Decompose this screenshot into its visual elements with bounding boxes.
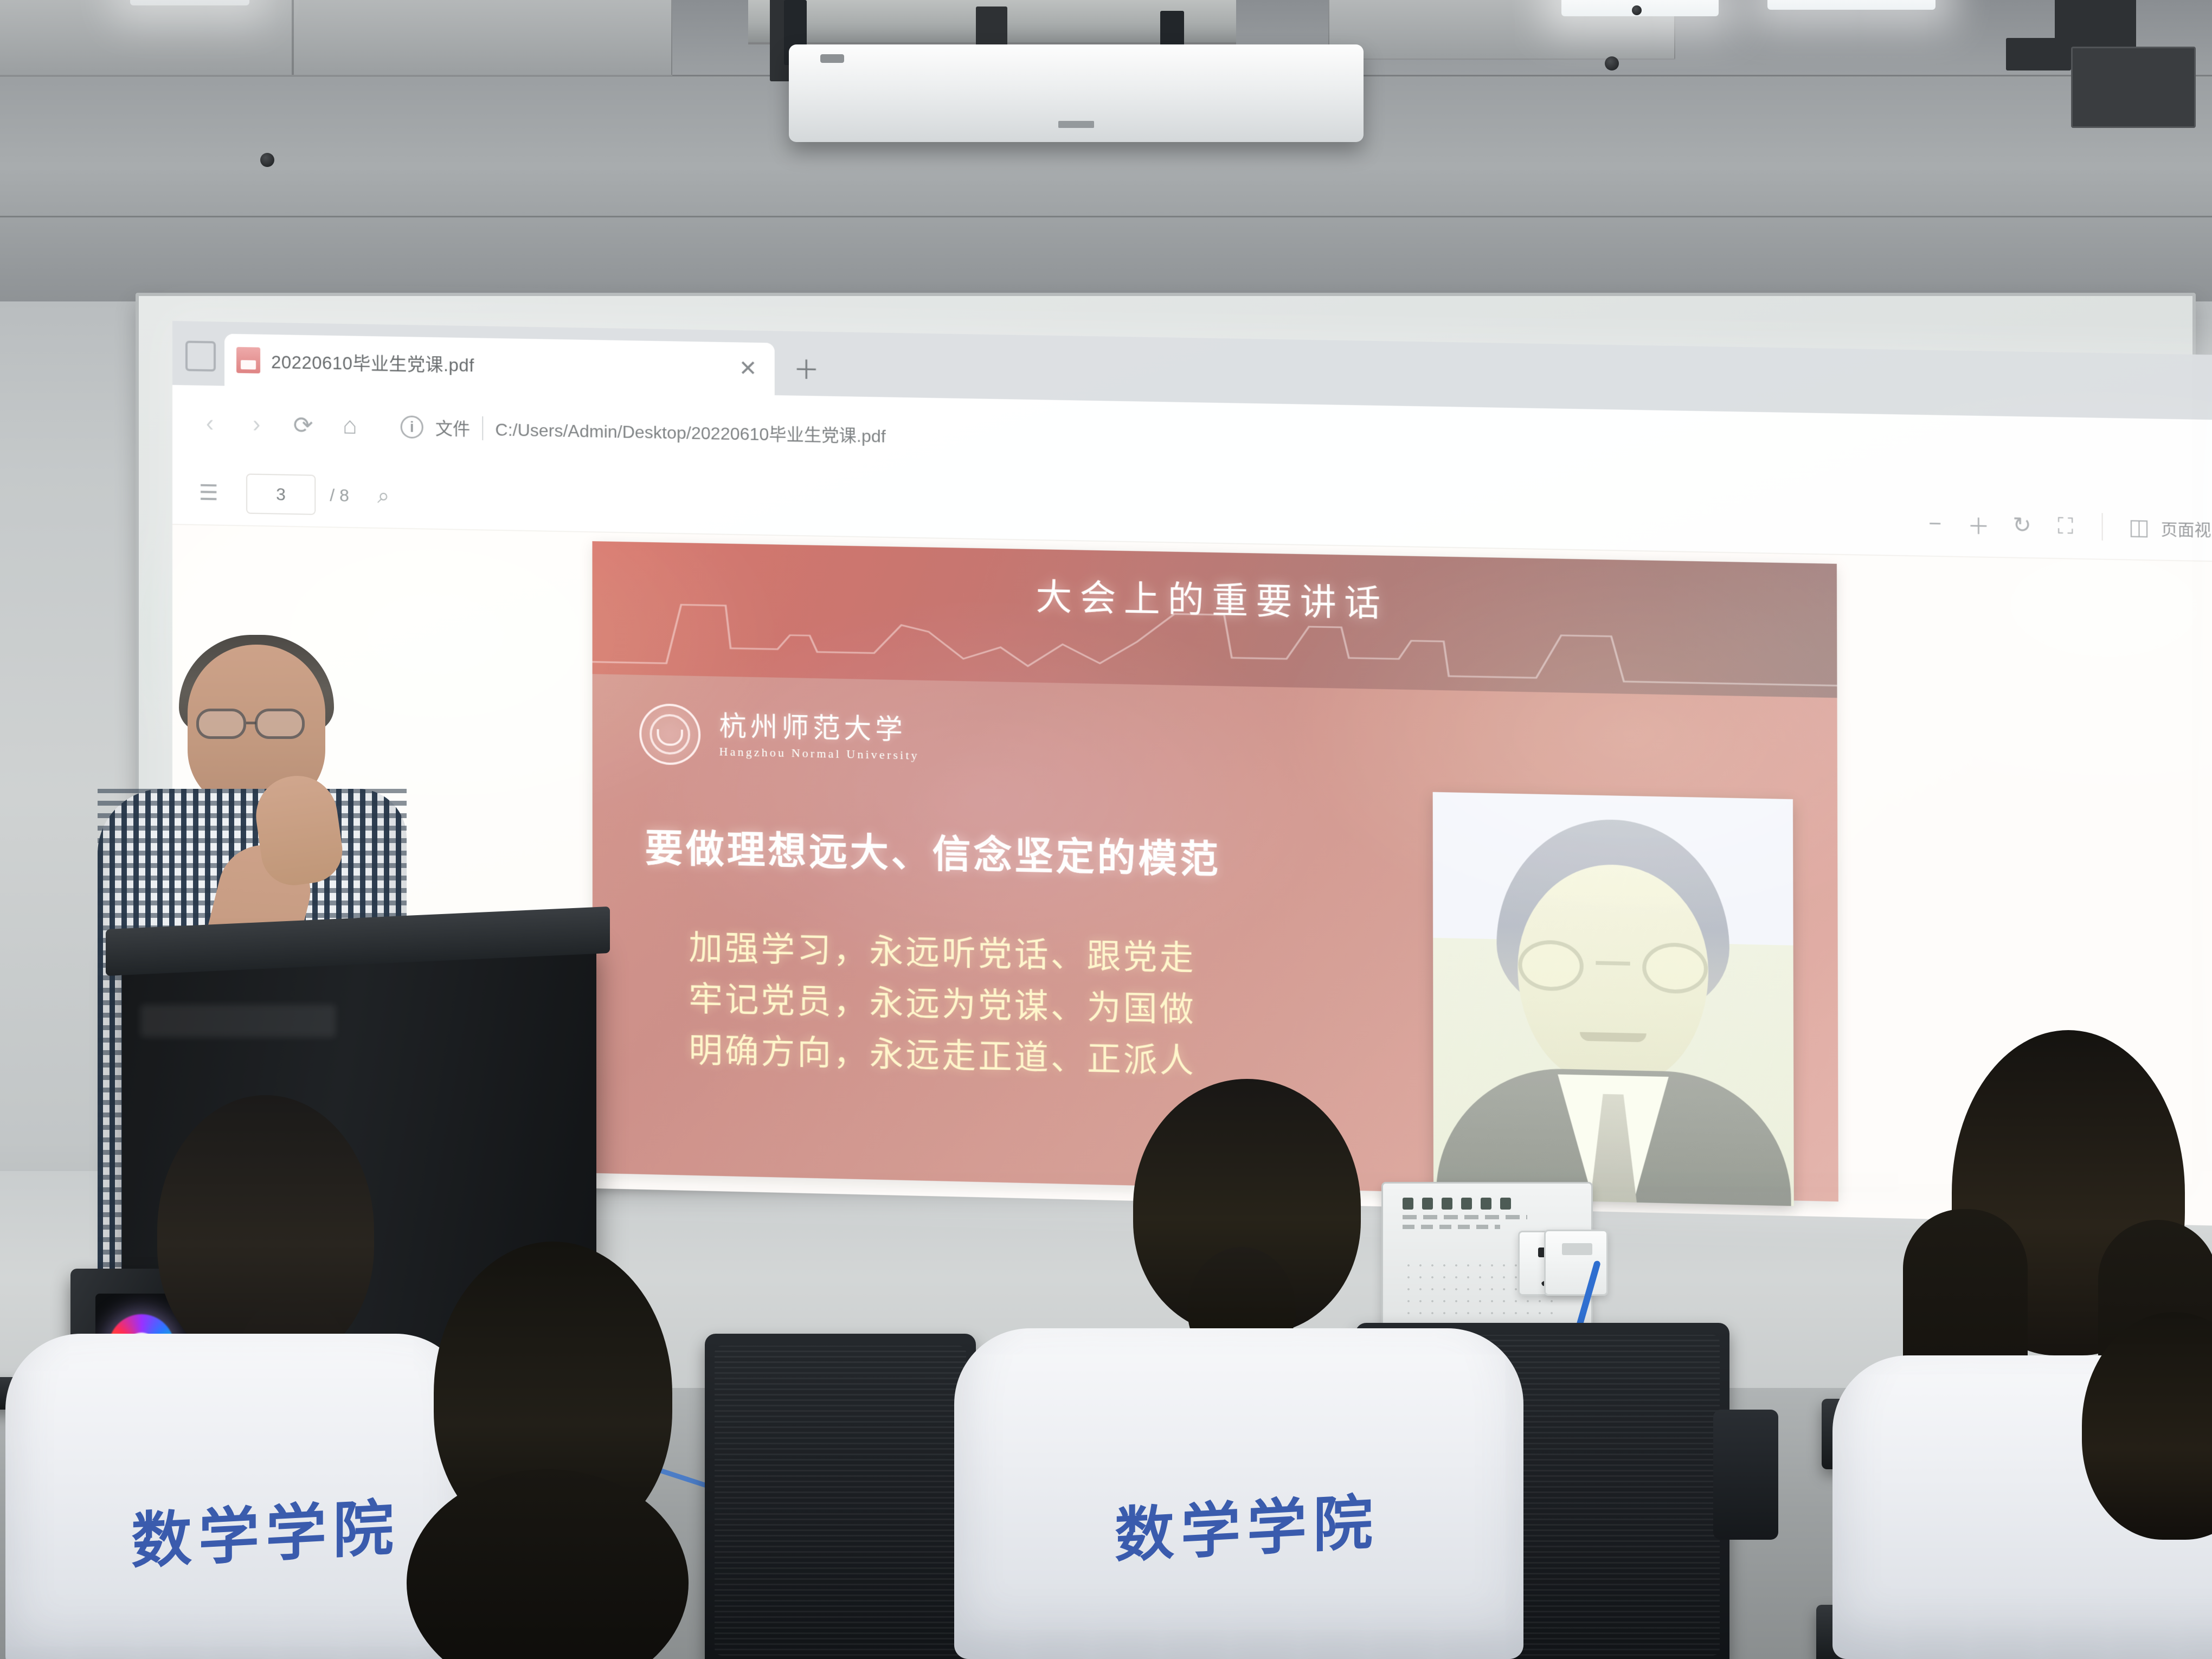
portrait-mouth <box>1580 1032 1647 1043</box>
sprinkler-head <box>260 153 274 167</box>
lectern-highlight <box>140 1005 336 1037</box>
reload-icon[interactable]: ⟳ <box>280 401 326 449</box>
close-icon[interactable]: ✕ <box>734 357 763 380</box>
ceiling-projector <box>789 44 1364 142</box>
portrait-photo <box>1433 792 1794 1206</box>
page-view-icon[interactable]: ◫ <box>2117 506 2161 550</box>
slide-body-lines: 加强学习，永远听党话、跟党走 牢记党员，永远为党谋、为国做 明确方向，永远走正道… <box>689 922 1196 1088</box>
scheme-label: 文件 <box>435 415 470 440</box>
forward-icon[interactable]: › <box>233 401 280 448</box>
site-info-icon[interactable]: i <box>401 415 423 439</box>
chair-armrest <box>1713 1410 1778 1540</box>
search-icon[interactable]: ⌕ <box>362 474 404 518</box>
url-text: C:/Users/Admin/Desktop/20220610毕业生党课.pdf <box>495 416 886 448</box>
network-port <box>1562 1243 1592 1255</box>
page-number-input[interactable]: 3 <box>246 473 316 515</box>
presenter-glasses-left <box>196 709 246 739</box>
rotate-icon[interactable]: ↻ <box>2000 504 2043 548</box>
back-icon[interactable]: ‹ <box>187 400 233 447</box>
chair[interactable] <box>705 1334 976 1659</box>
tab-title: 20220610毕业生党课.pdf <box>271 348 722 381</box>
slide-header-band: 大会上的重要讲话 <box>592 541 1837 698</box>
sprinkler-head <box>1632 5 1642 15</box>
fit-page-icon[interactable]: ⛶ <box>2044 504 2087 548</box>
ceiling-tile <box>0 0 293 76</box>
university-seal-icon <box>639 703 700 766</box>
student-far-right <box>2082 1312 2212 1659</box>
browser-tab[interactable]: 20220610毕业生党课.pdf ✕ <box>224 334 775 395</box>
portrait-glasses-bridge <box>1596 961 1630 966</box>
ceiling-gap <box>2006 38 2071 70</box>
zoom-out-icon[interactable]: − <box>1913 502 1957 546</box>
page-total-label: / 8 <box>330 485 349 506</box>
home-icon[interactable]: ⌂ <box>326 402 373 450</box>
university-logo: 杭州师范大学 Hangzhou Normal University <box>639 703 919 770</box>
university-name-en: Hangzhou Normal University <box>719 744 919 762</box>
screenshot-root: 20220610毕业生党课.pdf ✕ ＋ ‹ › ⟳ ⌂ i 文件 C:/Us… <box>0 0 2212 1659</box>
university-name-block: 杭州师范大学 Hangzhou Normal University <box>719 712 919 763</box>
ceiling-light <box>130 0 249 5</box>
ceiling-tile <box>293 0 672 76</box>
page-view-label[interactable]: 页面视图 <box>2161 516 2212 541</box>
student-front-left-2 <box>374 1242 743 1659</box>
slide-line: 明确方向，永远走正道、正派人 <box>689 1025 1196 1088</box>
sprinkler-head <box>1605 56 1619 70</box>
presenter-glasses-bridge <box>246 722 256 724</box>
omnibox-divider <box>482 416 483 440</box>
new-tab-icon[interactable]: ＋ <box>793 357 820 384</box>
ceiling-seam <box>0 216 2212 217</box>
presenter-glasses-right <box>255 709 305 739</box>
zoom-in-icon[interactable]: ＋ <box>1957 503 2000 546</box>
projector-lens <box>820 54 844 63</box>
toolbar-spacer <box>404 497 1913 524</box>
sidebar-toggle-icon[interactable]: ☰ <box>188 472 230 515</box>
toolbar-divider <box>2102 513 2103 541</box>
student-center: 数学学院 <box>1008 1079 1486 1659</box>
projector-brand-label <box>1058 121 1094 128</box>
student-hair <box>2082 1312 2212 1540</box>
window-menu-icon[interactable] <box>185 340 216 371</box>
ceiling-vent <box>2071 47 2196 128</box>
university-name-cn: 杭州师范大学 <box>719 712 919 745</box>
ceiling-light <box>1767 0 1935 10</box>
slide-heading: 要做理想远大、信念坚定的模范 <box>645 818 1221 884</box>
pdf-file-icon <box>236 347 260 374</box>
